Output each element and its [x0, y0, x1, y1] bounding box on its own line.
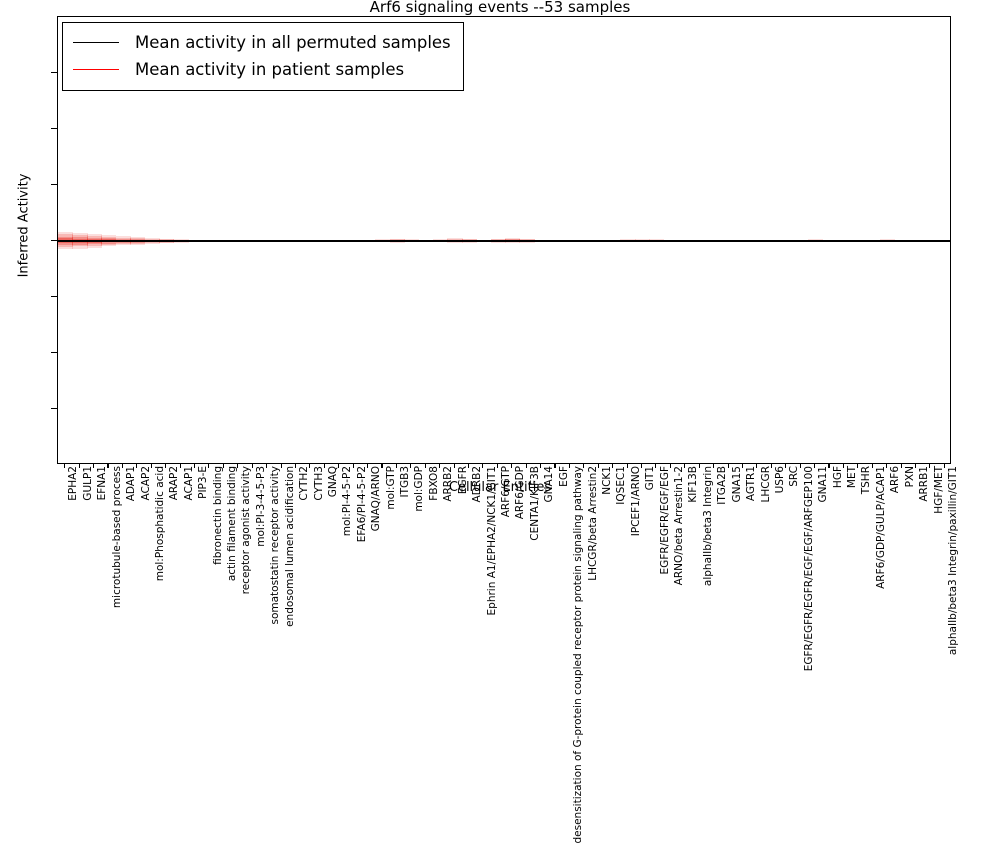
x-tick-mark	[785, 464, 786, 468]
x-tick-mark	[136, 464, 137, 468]
x-tick-mark	[944, 464, 945, 468]
x-tick-mark	[627, 464, 628, 468]
x-tick-mark	[309, 464, 310, 468]
x-tick-mark	[828, 464, 829, 468]
x-tick-mark	[526, 464, 527, 468]
x-tick-mark	[151, 464, 152, 468]
x-tick-label: mol:PI-4-5-P2	[342, 466, 353, 536]
x-tick-mark	[699, 464, 700, 468]
legend-item-permuted: Mean activity in all permuted samples	[73, 29, 451, 56]
x-tick-mark	[295, 464, 296, 468]
x-tick-mark	[583, 464, 584, 468]
x-tick-mark	[410, 464, 411, 468]
x-tick-mark	[497, 464, 498, 468]
legend-swatch-permuted	[73, 42, 119, 43]
x-tick-mark	[684, 464, 685, 468]
x-tick-mark	[194, 464, 195, 468]
x-tick-label: CENTA1/KIF3B	[530, 466, 541, 541]
x-tick-mark	[800, 464, 801, 468]
x-tick-mark	[237, 464, 238, 468]
x-tick-mark	[886, 464, 887, 468]
y-axis-label: Inferred Activity	[17, 16, 32, 436]
legend-label-patient: Mean activity in patient samples	[135, 61, 404, 79]
x-tick-mark	[281, 464, 282, 468]
x-tick-mark	[857, 464, 858, 468]
x-tick-mark	[79, 464, 80, 468]
chart-canvas: Arf6 signaling events --53 samples Infer…	[0, 0, 1000, 500]
x-axis-label: Cellular Entities	[0, 480, 1000, 495]
x-tick-label: EFA6/PI-4-5-P2	[357, 466, 368, 542]
x-tick-mark	[929, 464, 930, 468]
x-tick-label: mol:PI-3-4-5-P3	[256, 466, 267, 547]
x-tick-mark	[901, 464, 902, 468]
x-tick-mark	[64, 464, 65, 468]
x-tick-label: GNAQ/ARNO	[371, 466, 382, 531]
x-tick-mark	[180, 464, 181, 468]
x-tick-mark	[252, 464, 253, 468]
x-tick-label: IPCEF1/ARNO	[631, 466, 642, 536]
x-tick-mark	[165, 464, 166, 468]
x-tick-label: desensitization of G-protein coupled rec…	[573, 466, 584, 844]
x-tick-mark	[381, 464, 382, 468]
x-tick-mark	[540, 464, 541, 468]
x-tick-mark	[670, 464, 671, 468]
x-tick-mark	[511, 464, 512, 468]
legend-swatch-patient	[73, 69, 119, 70]
chart-title: Arf6 signaling events --53 samples	[0, 0, 1000, 16]
x-tick-mark	[713, 464, 714, 468]
x-tick-mark	[367, 464, 368, 468]
x-tick-mark	[612, 464, 613, 468]
x-tick-mark	[107, 464, 108, 468]
x-tick-mark	[208, 464, 209, 468]
x-tick-mark	[425, 464, 426, 468]
legend-item-patient: Mean activity in patient samples	[73, 56, 451, 83]
x-tick-mark	[915, 464, 916, 468]
x-tick-mark	[728, 464, 729, 468]
x-tick-mark	[396, 464, 397, 468]
x-tick-mark	[454, 464, 455, 468]
x-tick-mark	[569, 464, 570, 468]
mean-line-permuted-dots	[58, 240, 950, 242]
x-tick-mark	[655, 464, 656, 468]
x-tick-label: EGFR/EGFR/EGFR/EGF/EGF/ARFGEP100	[804, 466, 815, 671]
x-tick-mark	[122, 464, 123, 468]
legend-label-permuted: Mean activity in all permuted samples	[135, 34, 451, 52]
chart-legend: Mean activity in all permuted samples Me…	[62, 22, 464, 91]
x-tick-mark	[482, 464, 483, 468]
x-tick-mark	[843, 464, 844, 468]
x-tick-mark	[771, 464, 772, 468]
x-tick-mark	[598, 464, 599, 468]
x-tick-mark	[872, 464, 873, 468]
x-tick-mark	[756, 464, 757, 468]
x-tick-mark	[554, 464, 555, 468]
x-tick-mark	[742, 464, 743, 468]
x-tick-mark	[641, 464, 642, 468]
x-tick-mark	[223, 464, 224, 468]
x-tick-mark	[324, 464, 325, 468]
x-tick-mark	[338, 464, 339, 468]
x-tick-mark	[266, 464, 267, 468]
x-tick-mark	[814, 464, 815, 468]
x-tick-mark	[439, 464, 440, 468]
x-tick-mark	[93, 464, 94, 468]
x-tick-mark	[468, 464, 469, 468]
x-tick-mark	[353, 464, 354, 468]
